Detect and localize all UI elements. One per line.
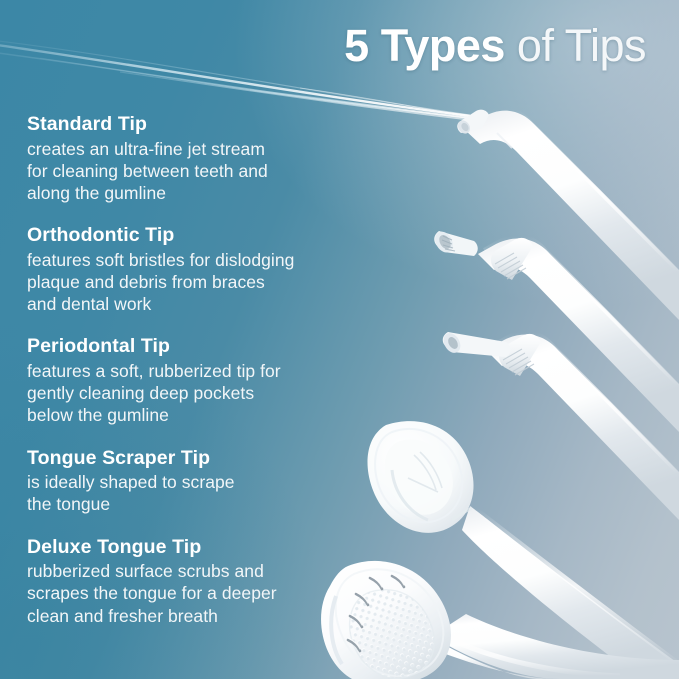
tip-desc-tongue-scraper: is ideally shaped to scrape the tongue — [27, 471, 347, 515]
tip-block-orthodontic: Orthodontic Tip features soft bristles f… — [27, 223, 347, 315]
tip-name-standard: Standard Tip — [27, 112, 347, 137]
tip-desc-line: scrapes the tongue for a deeper — [27, 583, 277, 603]
tip-desc-line: is ideally shaped to scrape — [27, 472, 235, 492]
tip-desc-line: features a soft, rubberized tip for — [27, 361, 281, 381]
page-title: 5 Types of Tips — [344, 22, 646, 69]
deluxe-tongue-paddle-icon — [321, 561, 679, 679]
tongue-scraper-paddle-icon — [368, 421, 679, 679]
tip-block-tongue-scraper: Tongue Scraper Tip is ideally shaped to … — [27, 446, 347, 516]
tip-desc-orthodontic: features soft bristles for dislodging pl… — [27, 249, 347, 316]
tip-desc-line: along the gumline — [27, 183, 166, 203]
periodontal-tip-cone-icon — [440, 330, 679, 520]
tip-name-tongue-scraper: Tongue Scraper Tip — [27, 446, 347, 471]
orthodontic-tip-brush-icon — [432, 228, 679, 432]
tip-desc-line: clean and fresher breath — [27, 606, 218, 626]
tip-desc-line: below the gumline — [27, 405, 169, 425]
tip-block-standard: Standard Tip creates an ultra-fine jet s… — [27, 112, 347, 204]
standard-tip-nozzle-icon — [456, 109, 679, 320]
tip-name-orthodontic: Orthodontic Tip — [27, 223, 347, 248]
tip-desc-line: plaque and debris from braces — [27, 272, 265, 292]
tip-desc-deluxe-tongue: rubberized surface scrubs and scrapes th… — [27, 560, 347, 627]
tip-desc-standard: creates an ultra-fine jet stream for cle… — [27, 138, 347, 205]
tip-name-deluxe-tongue: Deluxe Tongue Tip — [27, 535, 347, 560]
tip-desc-line: gently cleaning deep pockets — [27, 383, 254, 403]
page-title-light: of Tips — [505, 20, 646, 71]
tip-desc-line: the tongue — [27, 494, 110, 514]
tip-block-deluxe-tongue: Deluxe Tongue Tip rubberized surface scr… — [27, 535, 347, 627]
page-title-strong: 5 Types — [344, 20, 505, 71]
tip-desc-line: for cleaning between teeth and — [27, 161, 268, 181]
tip-desc-line: rubberized surface scrubs and — [27, 561, 264, 581]
tip-description-list: Standard Tip creates an ultra-fine jet s… — [27, 112, 347, 627]
product-infographic: 5 Types of Tips — [0, 0, 679, 679]
tip-desc-line: features soft bristles for dislodging — [27, 250, 294, 270]
tip-desc-periodontal: features a soft, rubberized tip for gent… — [27, 360, 347, 427]
tip-desc-line: creates an ultra-fine jet stream — [27, 139, 265, 159]
tip-block-periodontal: Periodontal Tip features a soft, rubberi… — [27, 334, 347, 426]
tip-desc-line: and dental work — [27, 294, 151, 314]
tip-name-periodontal: Periodontal Tip — [27, 334, 347, 359]
